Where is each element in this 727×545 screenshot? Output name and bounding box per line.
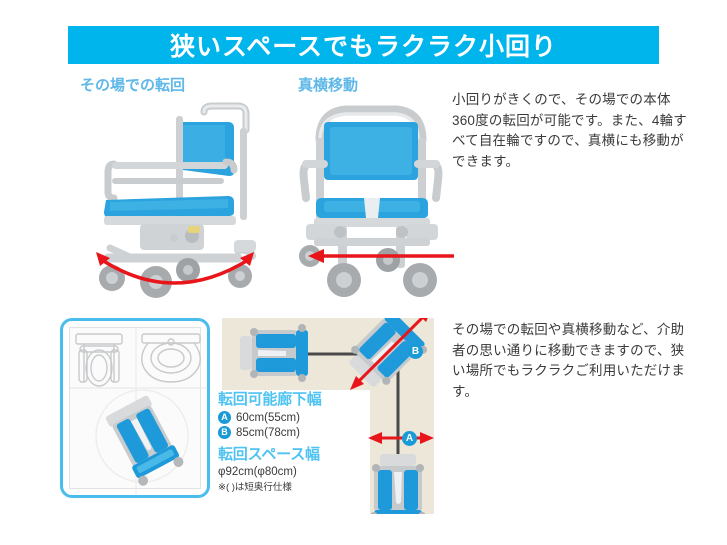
- chair-side-view-illustration: [88, 100, 268, 300]
- legend-rotation-diameter: φ92cm(φ80cm): [218, 466, 350, 478]
- caption-sideways-move: 真横移動: [298, 74, 358, 95]
- legend-row-a: A 60cm(55cm): [218, 411, 350, 424]
- legend-value-a: 60cm(55cm): [236, 412, 300, 424]
- legend-row-b: B 85cm(78cm): [218, 426, 350, 439]
- legend-footnote: ※( )は短奥行仕様: [218, 479, 350, 493]
- legend-badge-a: A: [218, 411, 231, 424]
- description-paragraph-bottom: その場での転回や真横移動など、介助者の思い通りに移動できますので、狭い場所でもラ…: [452, 320, 696, 402]
- photo-chair-side-view: [88, 100, 268, 300]
- washbasin-plan-view: [142, 334, 201, 382]
- photo-chair-front-view: [284, 100, 460, 300]
- diagram-badge-b: B: [408, 344, 423, 359]
- legend-badge-b: B: [218, 426, 231, 439]
- caption-rotate-in-place: その場での転回: [80, 74, 185, 95]
- floorplan-panel: [60, 318, 210, 498]
- toilet-plan-view: [76, 334, 122, 386]
- legend-heading-corridor-width: 転回可能廊下幅: [218, 388, 350, 409]
- page-title: 狭いスペースでもラクラク小回り: [170, 27, 557, 63]
- description-paragraph-top: 小回りがきくので、その場での本体360度の転回が可能です。また、4輪すべて自在輪…: [452, 90, 688, 172]
- diagram-legend: 転回可能廊下幅 A 60cm(55cm) B 85cm(78cm) 転回スペース…: [218, 388, 350, 493]
- page-title-banner: 狭いスペースでもラクラク小回り: [68, 26, 659, 64]
- chair-front-view-illustration: [284, 100, 460, 300]
- diagram-chair-vertical: [370, 454, 426, 514]
- diagram-chair-horizontal: [240, 324, 308, 382]
- diagram-badge-a: A: [402, 431, 417, 446]
- legend-value-b: 85cm(78cm): [236, 427, 300, 439]
- floorplan-inner: [69, 327, 201, 489]
- bathroom-floorplan-illustration: [70, 328, 208, 496]
- legend-heading-rotation-space: 転回スペース幅: [218, 443, 350, 464]
